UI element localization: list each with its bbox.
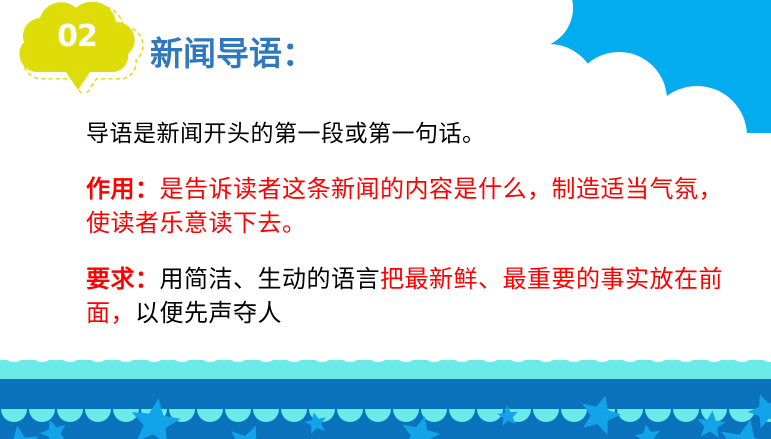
slide-canvas: 02 新闻导语： 导语是新闻开头的第一段或第一句话。 作用：是告诉读者这条新闻的… [0, 0, 771, 439]
paragraph-function: 作用：是告诉读者这条新闻的内容是什么，制造适当气氛，使读者乐意读下去。 [86, 173, 726, 241]
requirement-text-b: 以便先声夺人 [135, 301, 282, 327]
bottom-decoration-band [0, 349, 771, 439]
wave-stars-svg [0, 349, 771, 439]
section-number-badge: 02 [2, 2, 152, 94]
wave-dark-layer [0, 379, 771, 439]
function-text: 是告诉读者这条新闻的内容是什么，制造适当气氛，使读者乐意读下去。 [86, 177, 723, 237]
wave-light-layer [0, 360, 771, 382]
body-text-block: 导语是新闻开头的第一段或第一句话。 作用：是告诉读者这条新闻的内容是什么，制造适… [86, 118, 726, 331]
paragraph-requirement: 要求：用简洁、生动的语言把最新鲜、最重要的事实放在前面，以便先声夺人 [86, 263, 726, 331]
definition-text: 导语是新闻开头的第一段或第一句话。 [86, 121, 486, 146]
page-title: 新闻导语： [150, 36, 315, 72]
requirement-text-a: 用简洁、生动的语言 [160, 267, 381, 293]
paragraph-definition: 导语是新闻开头的第一段或第一句话。 [86, 118, 726, 151]
function-label: 作用： [86, 177, 160, 203]
requirement-label: 要求： [86, 267, 160, 293]
section-number-label: 02 [2, 2, 152, 72]
